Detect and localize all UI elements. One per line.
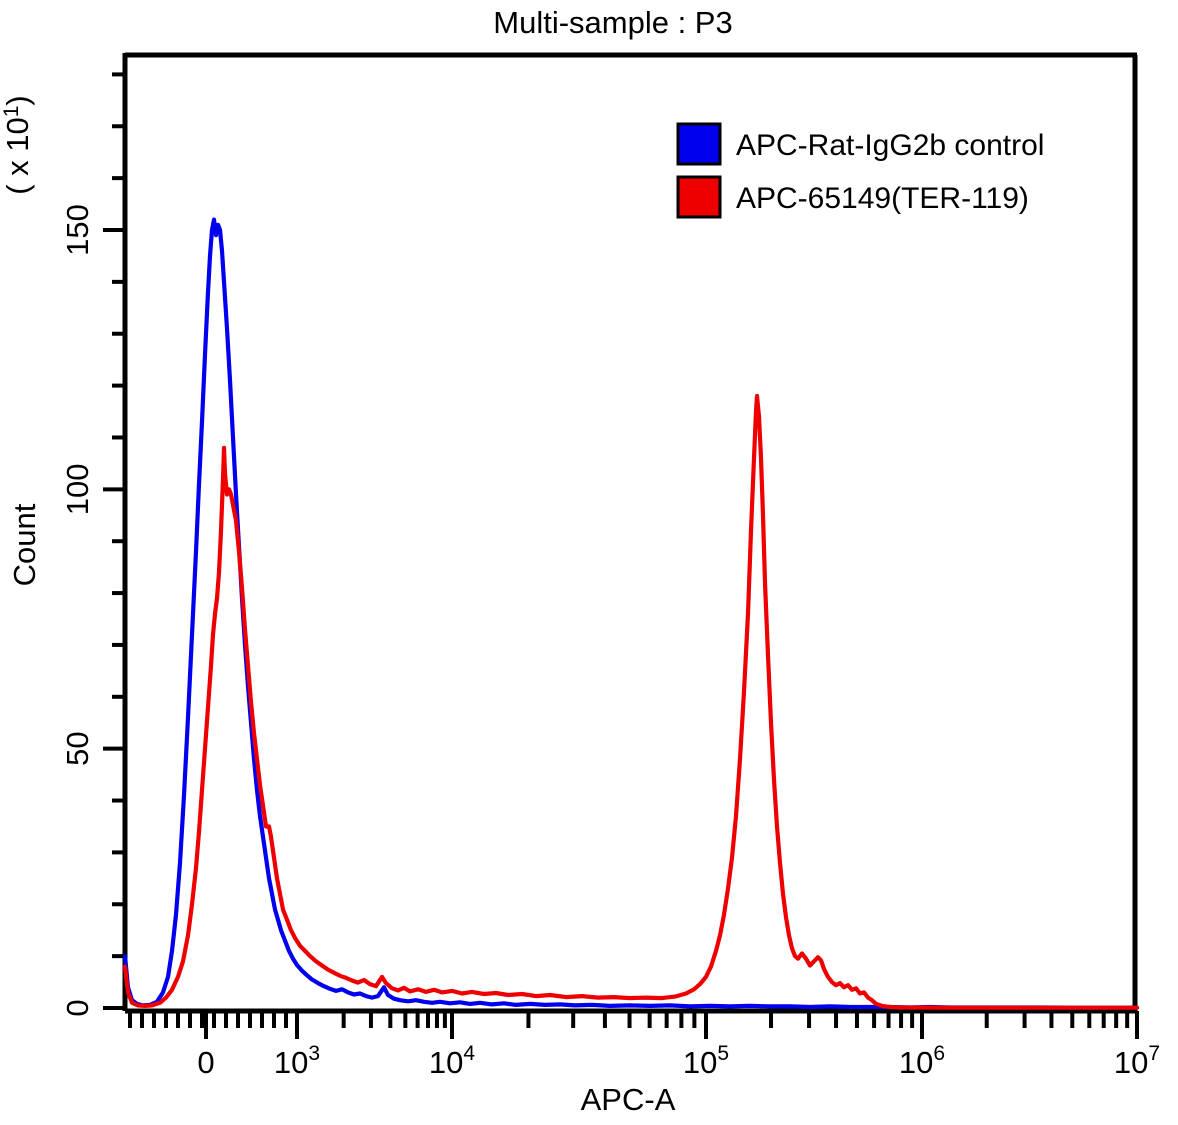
y-mult-exp: 1 <box>0 106 23 118</box>
x-axis-title: APC-A <box>581 1082 676 1117</box>
chart-title: Multi-sample : P3 <box>493 5 732 40</box>
x-tick-label: 106 <box>899 1042 945 1080</box>
x-axis-tick-labels: 0103104105106107 <box>197 1042 1160 1080</box>
x-tick-label: 107 <box>1114 1042 1160 1080</box>
y-axis-multiplier: ( x 101) <box>0 95 35 195</box>
svg-text:( x 101): ( x 101) <box>0 95 35 195</box>
data-traces <box>125 220 1137 1008</box>
chart-canvas: Multi-sample : P3 Count ( x 101) APC-A 0… <box>0 0 1178 1125</box>
x-tick-label: 104 <box>429 1042 475 1080</box>
x-tick-label: 0 <box>197 1045 214 1080</box>
y-mult-close: ) <box>0 95 35 105</box>
chart-legend: APC-Rat-IgG2b controlAPC-65149(TER-119) <box>678 124 1044 217</box>
y-axis-ticks <box>103 74 125 1008</box>
y-mult-open: ( x 10 <box>0 117 35 195</box>
legend-label: APC-Rat-IgG2b control <box>736 129 1044 162</box>
flow-cytometry-histogram: Multi-sample : P3 Count ( x 101) APC-A 0… <box>0 0 1178 1125</box>
y-tick-label: 150 <box>60 204 95 256</box>
x-axis-ticks <box>130 1011 1137 1039</box>
x-tick-label: 105 <box>683 1042 729 1080</box>
y-axis-tick-labels: 050100150 <box>60 204 95 1016</box>
legend-label: APC-65149(TER-119) <box>736 182 1029 215</box>
watermark-text: WWW.PTGLAB.COM <box>818 921 1092 951</box>
legend-swatch <box>678 124 720 164</box>
trace-line <box>125 220 1137 1008</box>
legend-swatch <box>678 177 720 217</box>
y-tick-label: 50 <box>60 731 95 765</box>
x-tick-label: 103 <box>274 1042 320 1080</box>
y-tick-label: 100 <box>60 463 95 515</box>
y-tick-label: 0 <box>60 999 95 1016</box>
y-axis-title: Count <box>7 503 42 586</box>
